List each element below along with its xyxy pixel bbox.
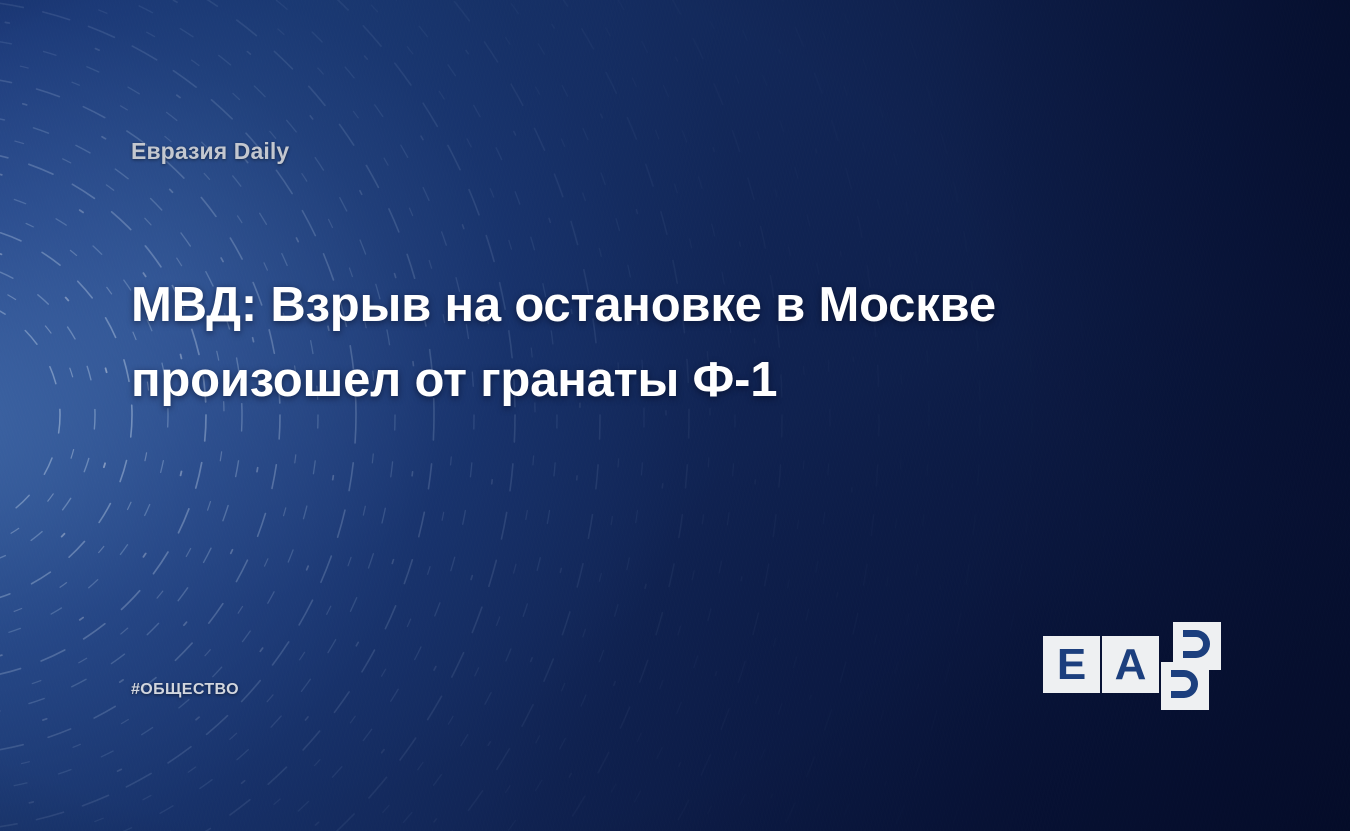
category-hashtag[interactable]: #ОБЩЕСТВО: [131, 681, 239, 699]
logo-letter-e: E: [1043, 636, 1100, 693]
headline-line-2: произошел от гранаты Ф-1: [131, 343, 1121, 418]
logo-d-glyph-lower: [1161, 662, 1209, 710]
logo-tile-a: A: [1102, 636, 1159, 693]
logo-letter-a: A: [1102, 636, 1159, 693]
publisher-brand-label: Евразия Daily: [131, 138, 289, 165]
eadaily-logo[interactable]: E A: [1043, 622, 1221, 710]
logo-tile-e: E: [1043, 636, 1100, 693]
headline-line-1: МВД: Взрыв на остановке в Москве: [131, 268, 1121, 343]
news-card: Евразия Daily МВД: Взрыв на остановке в …: [0, 0, 1350, 831]
logo-tile-d-lower: [1161, 662, 1209, 710]
article-headline: МВД: Взрыв на остановке в Москве произош…: [131, 268, 1121, 418]
card-content: Евразия Daily МВД: Взрыв на остановке в …: [0, 0, 1350, 831]
